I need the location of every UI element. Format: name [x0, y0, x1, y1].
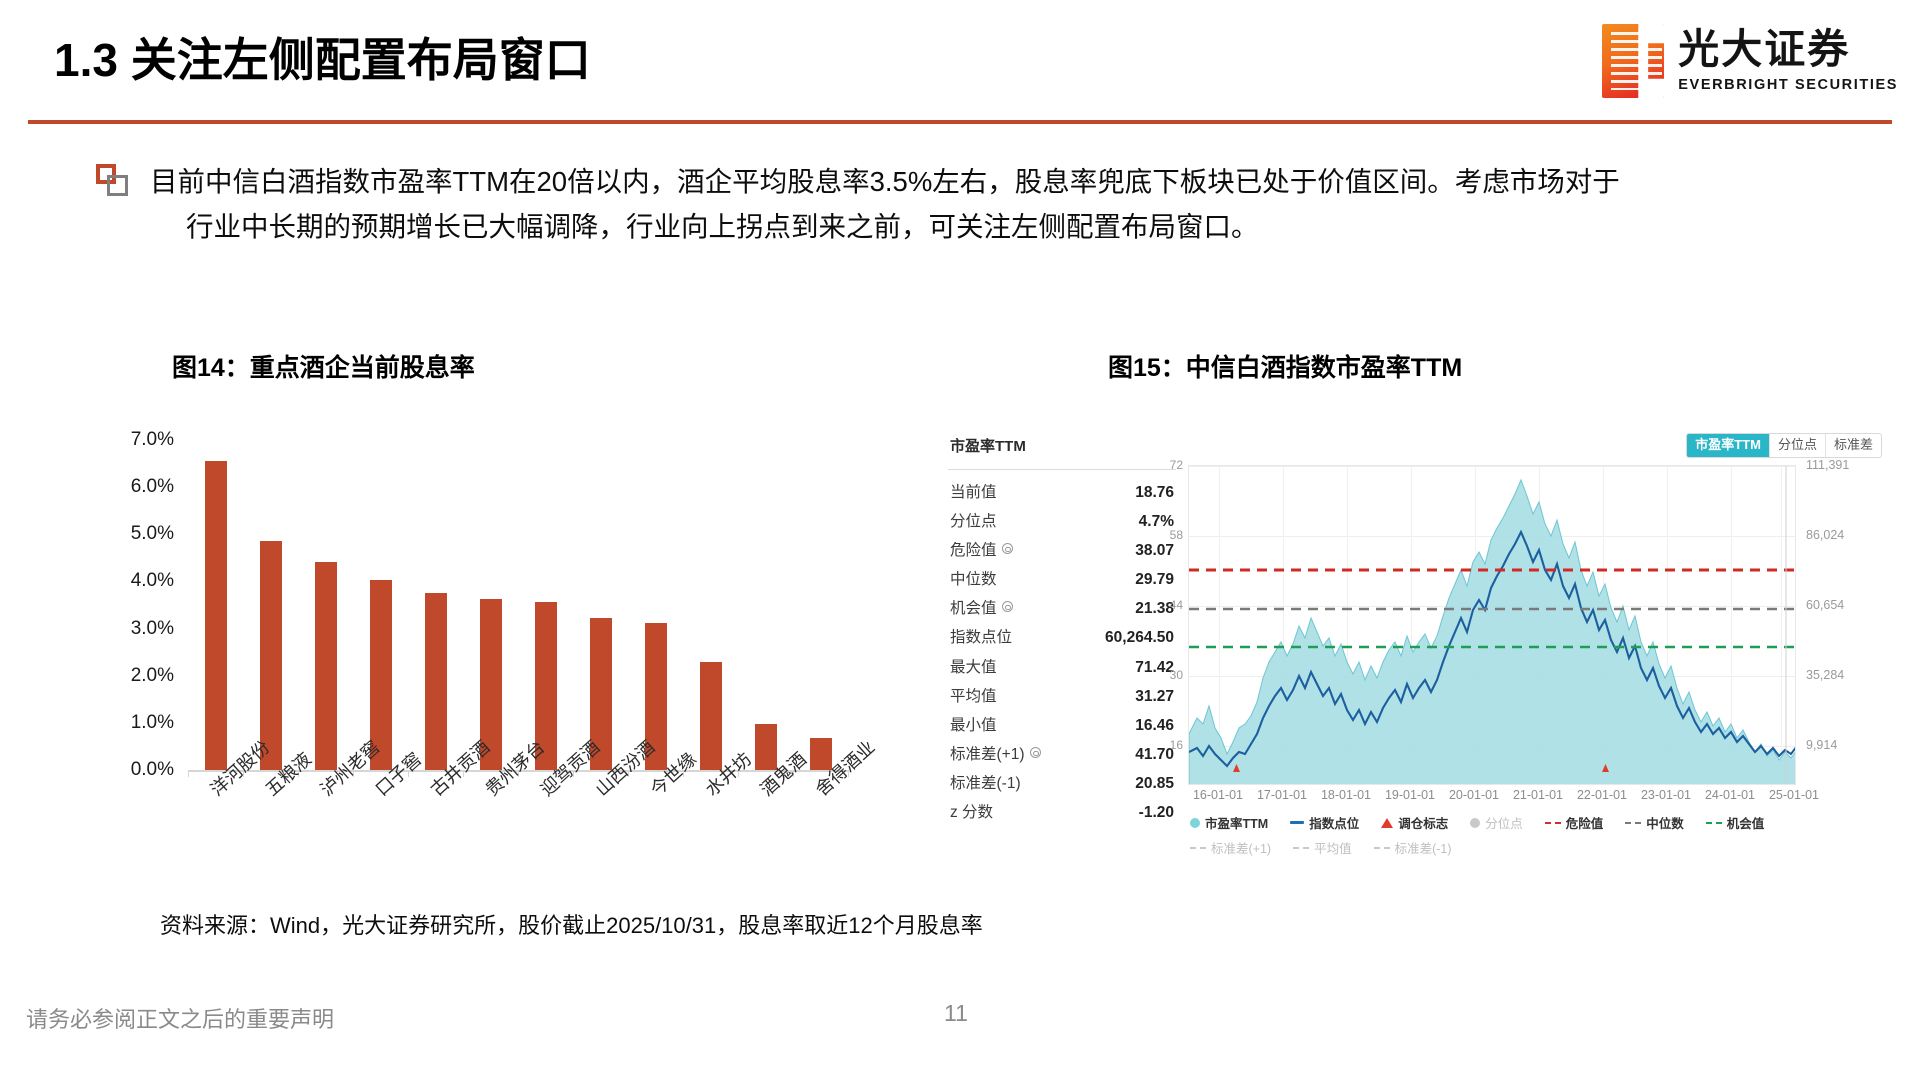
pe-stat-label: 中位数 — [950, 567, 997, 589]
legend-label: 危险值 — [1566, 813, 1604, 832]
bar-chart-y-tick: 7.0% — [131, 429, 174, 451]
legend-item[interactable]: 平均值 — [1293, 838, 1352, 857]
brand-logo: 光大证券 EVERBRIGHT SECURITIES — [1602, 24, 1898, 98]
bar-chart-bar — [315, 562, 337, 770]
gear-icon[interactable] — [1002, 601, 1013, 612]
legend-dash-icon — [1625, 822, 1641, 824]
legend-label: 机会值 — [1727, 813, 1765, 832]
pe-x-axis: 16-01-0117-01-0118-01-0119-01-0120-01-01… — [1188, 788, 1796, 808]
legend-dot-icon — [1190, 818, 1200, 828]
pe-stat-row: 中位数29.79 — [948, 563, 1176, 592]
pe-left-axis-tick: 30 — [1170, 668, 1183, 682]
bar-chart-bar — [425, 593, 447, 770]
legend-item[interactable]: 危险值 — [1545, 813, 1604, 832]
pe-x-axis-tick: 23-01-01 — [1641, 788, 1691, 802]
pe-stat-row: z 分数-1.20 — [948, 796, 1176, 825]
pe-stats-secondary: 最大值71.42平均值31.27最小值16.46标准差(+1)41.70标准差(… — [948, 651, 1176, 825]
pe-x-axis-tick: 21-01-01 — [1513, 788, 1563, 802]
bar-chart-y-tick: 6.0% — [131, 476, 174, 498]
pe-stat-label: 最大值 — [950, 655, 997, 677]
pe-toggle-option[interactable]: 分位点 — [1770, 434, 1826, 457]
bar-chart-y-tick: 5.0% — [131, 523, 174, 545]
pe-chart-svg — [1189, 466, 1796, 785]
legend-dash-icon — [1545, 822, 1561, 824]
pe-metric-toggle-group[interactable]: 市盈率TTM分位点标准差 — [1686, 433, 1882, 458]
pe-x-axis-tick: 24-01-01 — [1705, 788, 1755, 802]
legend-item[interactable]: 中位数 — [1625, 813, 1684, 832]
pe-stat-row: 最小值16.46 — [948, 709, 1176, 738]
legend-label: 中位数 — [1646, 813, 1684, 832]
legend-item[interactable]: 标准差(-1) — [1374, 838, 1452, 857]
pe-stats-primary: 当前值18.76分位点4.7%危险值38.07中位数29.79机会值21.38指… — [948, 469, 1176, 650]
pe-toggle-option[interactable]: 标准差 — [1826, 434, 1881, 457]
bar-chart-x-tick — [188, 770, 189, 777]
legend-dash-icon — [1374, 847, 1390, 849]
bullet-line-1: 目前中信白酒指数市盈率TTM在20倍以内，酒企平均股息率3.5%左右，股息率兜底… — [150, 166, 1620, 197]
pe-stat-row: 危险值38.07 — [948, 534, 1176, 563]
pe-toggle-active[interactable]: 市盈率TTM — [1687, 434, 1770, 457]
bar-chart-plot-area — [188, 440, 848, 770]
pe-chart-legend: 市盈率TTM指数点位调仓标志分位点危险值中位数机会值标准差(+1)平均值标准差(… — [1190, 813, 1830, 857]
pe-stat-label: 指数点位 — [950, 625, 1012, 647]
legend-dot-icon — [1470, 818, 1480, 828]
legend-label: 指数点位 — [1309, 813, 1359, 832]
legend-label: 标准差(+1) — [1211, 838, 1271, 857]
pe-left-axis-tick: 16 — [1170, 738, 1183, 752]
legend-label: 标准差(-1) — [1395, 838, 1452, 857]
bar-chart-y-tick: 2.0% — [131, 665, 174, 687]
page-number: 11 — [944, 1000, 968, 1027]
disclaimer-note: 请务必参阅正文之后的重要声明 — [26, 1002, 334, 1034]
figure-14-caption: 图14：重点酒企当前股息率 — [172, 348, 475, 384]
pe-stat-row: 最大值71.42 — [948, 651, 1176, 680]
legend-label: 分位点 — [1485, 813, 1523, 832]
double-square-bullet-icon — [96, 164, 130, 198]
pe-stat-label: 分位点 — [950, 509, 997, 531]
pe-x-axis-tick: 17-01-01 — [1257, 788, 1307, 802]
pe-left-axis: 7258443016 — [1154, 465, 1186, 785]
bar-chart-y-tick: 0.0% — [131, 759, 174, 781]
bullet-text: 目前中信白酒指数市盈率TTM在20倍以内，酒企平均股息率3.5%左右，股息率兜底… — [150, 160, 1620, 249]
page-title: 1.3 关注左侧配置布局窗口 — [54, 24, 591, 90]
logo-name-en: EVERBRIGHT SECURITIES — [1678, 77, 1898, 93]
pe-stat-row: 指数点位60,264.50 — [948, 621, 1176, 650]
legend-dash-icon — [1293, 847, 1309, 849]
pe-x-axis-tick: 20-01-01 — [1449, 788, 1499, 802]
pe-right-axis-tick: 35,284 — [1806, 668, 1844, 682]
legend-dash-icon — [1706, 822, 1722, 824]
pe-stat-row: 标准差(+1)41.70 — [948, 738, 1176, 767]
pe-stat-row: 分位点4.7% — [948, 505, 1176, 534]
figure-15-caption: 图15：中信白酒指数市盈率TTM — [1108, 348, 1462, 384]
pe-right-axis: 111,39186,02460,65435,2849,914 — [1802, 465, 1882, 785]
bar-chart-y-axis: 0.0%1.0%2.0%3.0%4.0%5.0%6.0%7.0% — [96, 430, 180, 770]
pe-right-axis-tick: 9,914 — [1806, 738, 1837, 752]
legend-label: 调仓标志 — [1398, 813, 1448, 832]
bar-chart-y-tick: 4.0% — [131, 570, 174, 592]
legend-triangle-icon — [1381, 818, 1393, 828]
logo-name-cn: 光大证券 — [1678, 29, 1898, 70]
legend-item[interactable]: 指数点位 — [1290, 813, 1359, 832]
title-divider — [28, 120, 1892, 124]
pe-right-axis-tick: 111,391 — [1806, 458, 1849, 472]
pe-right-axis-tick: 60,654 — [1806, 598, 1844, 612]
pe-stat-value: -1.20 — [1139, 804, 1174, 822]
pe-left-axis-tick: 58 — [1170, 528, 1183, 542]
legend-label: 平均值 — [1314, 838, 1352, 857]
pe-stat-label: 标准差(-1) — [950, 771, 1021, 793]
pe-stat-row: 平均值31.27 — [948, 680, 1176, 709]
pe-x-axis-tick: 18-01-01 — [1321, 788, 1371, 802]
pe-stat-label: 危险值 — [950, 538, 997, 560]
pe-stat-row: 当前值18.76 — [948, 476, 1176, 505]
bullet-line-2: 行业中长期的预期增长已大幅调降，行业向上拐点到来之前，可关注左侧配置布局窗口。 — [150, 205, 1620, 250]
pe-stat-label: z 分数 — [950, 800, 993, 822]
pe-stat-label: 标准差(+1) — [950, 742, 1025, 764]
pe-stat-label: 机会值 — [950, 596, 997, 618]
gear-icon[interactable] — [1030, 747, 1041, 758]
legend-item[interactable]: 调仓标志 — [1381, 813, 1448, 832]
pe-ttm-area — [1189, 480, 1796, 785]
pe-right-axis-tick: 86,024 — [1806, 528, 1844, 542]
bar-chart-y-tick: 1.0% — [131, 712, 174, 734]
legend-item[interactable]: 市盈率TTM — [1190, 813, 1268, 832]
legend-item[interactable]: 标准差(+1) — [1190, 838, 1271, 857]
pe-x-axis-tick: 25-01-01 — [1769, 788, 1819, 802]
everbright-b-logo-icon — [1602, 24, 1664, 98]
pe-stat-label: 平均值 — [950, 684, 997, 706]
pe-left-axis-tick: 72 — [1170, 458, 1183, 472]
dividend-yield-bar-chart: 0.0%1.0%2.0%3.0%4.0%5.0%6.0%7.0% 洋河股份五粮液… — [96, 430, 886, 830]
pe-x-axis-tick: 16-01-01 — [1193, 788, 1243, 802]
pe-x-axis-tick: 19-01-01 — [1385, 788, 1435, 802]
pe-ttm-widget: 市盈率TTM 市盈率TTM分位点标准差 当前值18.76分位点4.7%危险值38… — [940, 425, 1890, 855]
pe-chart-canvas[interactable]: 2025-10-24 市盈率TTM:18.75指数点位:60,333.27危险值… — [1188, 465, 1796, 785]
pe-stat-row: 标准差(-1)20.85 — [948, 767, 1176, 796]
legend-label: 市盈率TTM — [1205, 813, 1268, 832]
pe-stat-row: 机会值21.38 — [948, 592, 1176, 621]
gear-icon[interactable] — [1002, 543, 1013, 554]
legend-line-icon — [1290, 821, 1304, 824]
pe-stat-label: 最小值 — [950, 713, 997, 735]
bullet-paragraph: 目前中信白酒指数市盈率TTM在20倍以内，酒企平均股息率3.5%左右，股息率兜底… — [96, 160, 1886, 249]
pe-stat-label: 当前值 — [950, 480, 997, 502]
pe-left-axis-tick: 44 — [1170, 598, 1183, 612]
bar-chart-bar — [205, 461, 227, 770]
legend-item[interactable]: 机会值 — [1706, 813, 1765, 832]
bar-chart-y-tick: 3.0% — [131, 618, 174, 640]
legend-item[interactable]: 分位点 — [1470, 813, 1523, 832]
bar-chart-bar — [260, 541, 282, 770]
bar-chart-bar — [700, 662, 722, 770]
pe-widget-title: 市盈率TTM — [950, 435, 1026, 456]
pe-x-axis-tick: 22-01-01 — [1577, 788, 1627, 802]
source-note: 资料来源：Wind，光大证券研究所，股价截止2025/10/31，股息率取近12… — [160, 908, 983, 940]
legend-dash-icon — [1190, 847, 1206, 849]
